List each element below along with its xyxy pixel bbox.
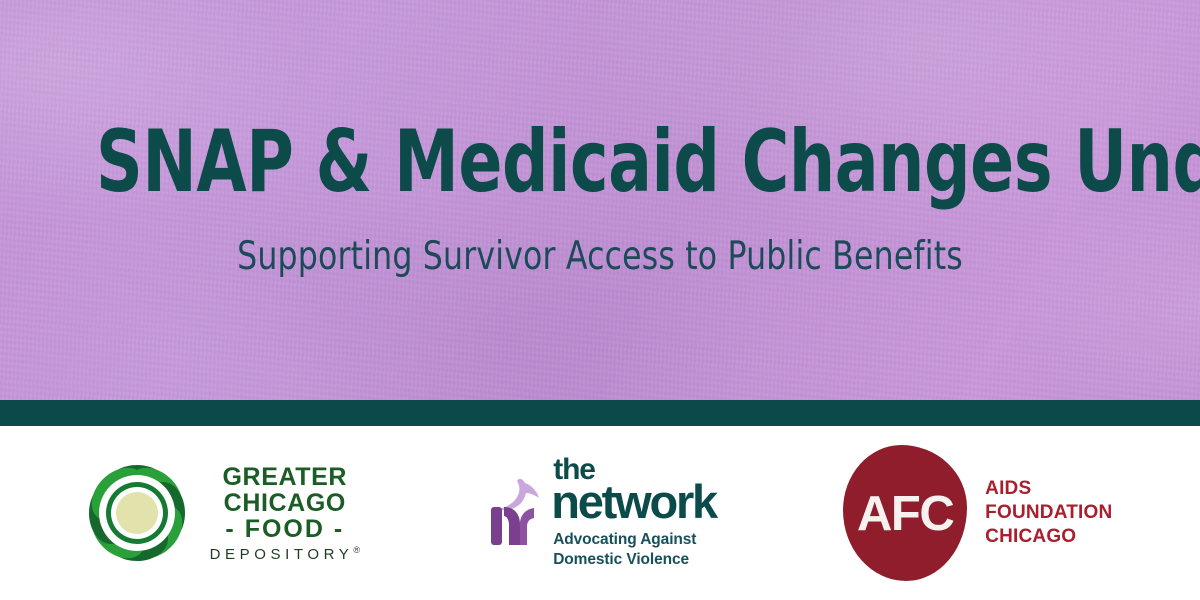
page-subtitle: Supporting Survivor Access to Public Ben… bbox=[60, 234, 1140, 280]
afc-line-foundation: FOUNDATION bbox=[985, 501, 1112, 525]
gcfd-line-greater: GREATER bbox=[210, 464, 360, 490]
rosette-flower-icon bbox=[78, 454, 196, 572]
gcfd-depository-text: DEPOSITORY bbox=[210, 546, 354, 563]
afc-acronym: AFC bbox=[857, 490, 953, 539]
poster-graphic: SNAP & Medicaid Changes Under HR1 Suppor… bbox=[0, 0, 1200, 600]
logo-greater-chicago-food-depository: GREATER CHICAGO - FOOD - DEPOSITORY® bbox=[78, 454, 360, 572]
partner-logo-band: GREATER CHICAGO - FOOD - DEPOSITORY® the… bbox=[0, 426, 1200, 600]
hero-banner: SNAP & Medicaid Changes Under HR1 Suppor… bbox=[0, 0, 1200, 400]
gcfd-line-food: - FOOD - bbox=[210, 516, 360, 542]
network-tagline-line2: Domestic Violence bbox=[553, 550, 716, 570]
network-word-network: network bbox=[551, 480, 716, 524]
logo-aids-foundation-chicago: AFC AIDS FOUNDATION CHICAGO bbox=[843, 445, 1112, 581]
network-tagline-line1: Advocating Against bbox=[553, 530, 716, 550]
afc-wordmark: AIDS FOUNDATION CHICAGO bbox=[985, 477, 1112, 549]
logo-the-network: the network Advocating Against Domestic … bbox=[487, 457, 716, 570]
registered-trademark-icon: ® bbox=[353, 545, 360, 555]
gcfd-line-chicago: CHICAGO bbox=[210, 490, 360, 516]
afc-line-chicago: CHICAGO bbox=[985, 525, 1112, 549]
network-wordmark: the network Advocating Against Domestic … bbox=[551, 457, 716, 570]
network-tagline: Advocating Against Domestic Violence bbox=[553, 530, 716, 570]
dove-bird-svg bbox=[487, 477, 545, 549]
page-title: SNAP & Medicaid Changes Under HR1 bbox=[96, 120, 1104, 204]
teal-divider-bar bbox=[0, 400, 1200, 426]
afc-line-aids: AIDS bbox=[985, 477, 1112, 501]
gcfd-line-depository: DEPOSITORY® bbox=[210, 546, 360, 563]
dove-bird-icon bbox=[487, 477, 545, 549]
gcfd-wordmark: GREATER CHICAGO - FOOD - DEPOSITORY® bbox=[210, 464, 360, 563]
afc-blob-icon: AFC bbox=[843, 445, 967, 581]
